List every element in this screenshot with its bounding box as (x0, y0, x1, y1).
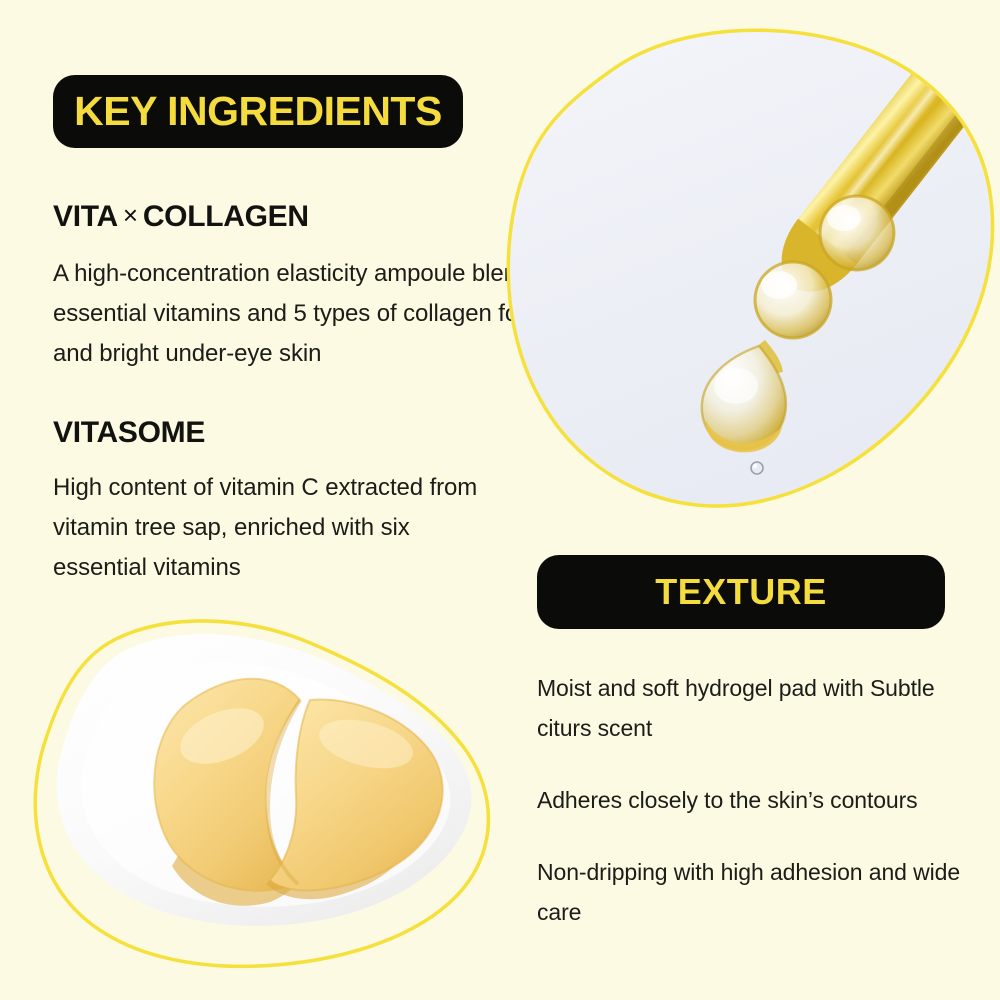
pipette-bubble-lower (755, 262, 831, 338)
ingredient-heading-vitasome: VITASOME (53, 416, 205, 450)
ingredient-heading-part-first: VITASOME (53, 416, 205, 449)
texture-line-3: Non-dripping with high adhesion and wide… (537, 852, 977, 932)
texture-line-1: Moist and soft hydrogel pad with Subtle … (537, 668, 977, 748)
texture-line-2: Adheres closely to the skin’s contours (537, 780, 977, 820)
ingredient-heading-part-last: COLLAGEN (143, 200, 309, 233)
ingredient-body-vitasome: High content of vitamin C extracted from… (53, 468, 483, 588)
texture-badge: TEXTURE (537, 555, 945, 629)
pipette-bubble-upper (820, 196, 894, 270)
ingredient-heading-vita-collagen: VITA×COLLAGEN (53, 200, 309, 234)
key-ingredients-badge: KEY INGREDIENTS (53, 75, 463, 148)
product-detail-page: KEY INGREDIENTS VITA×COLLAGEN A high-con… (0, 0, 1000, 1000)
eye-patch-content (57, 634, 472, 926)
ingredient-heading-part-first: VITA (53, 200, 118, 233)
eye-patch-photo (18, 608, 518, 1000)
dropper-photo (497, 28, 1000, 518)
multiply-icon: × (118, 200, 143, 230)
